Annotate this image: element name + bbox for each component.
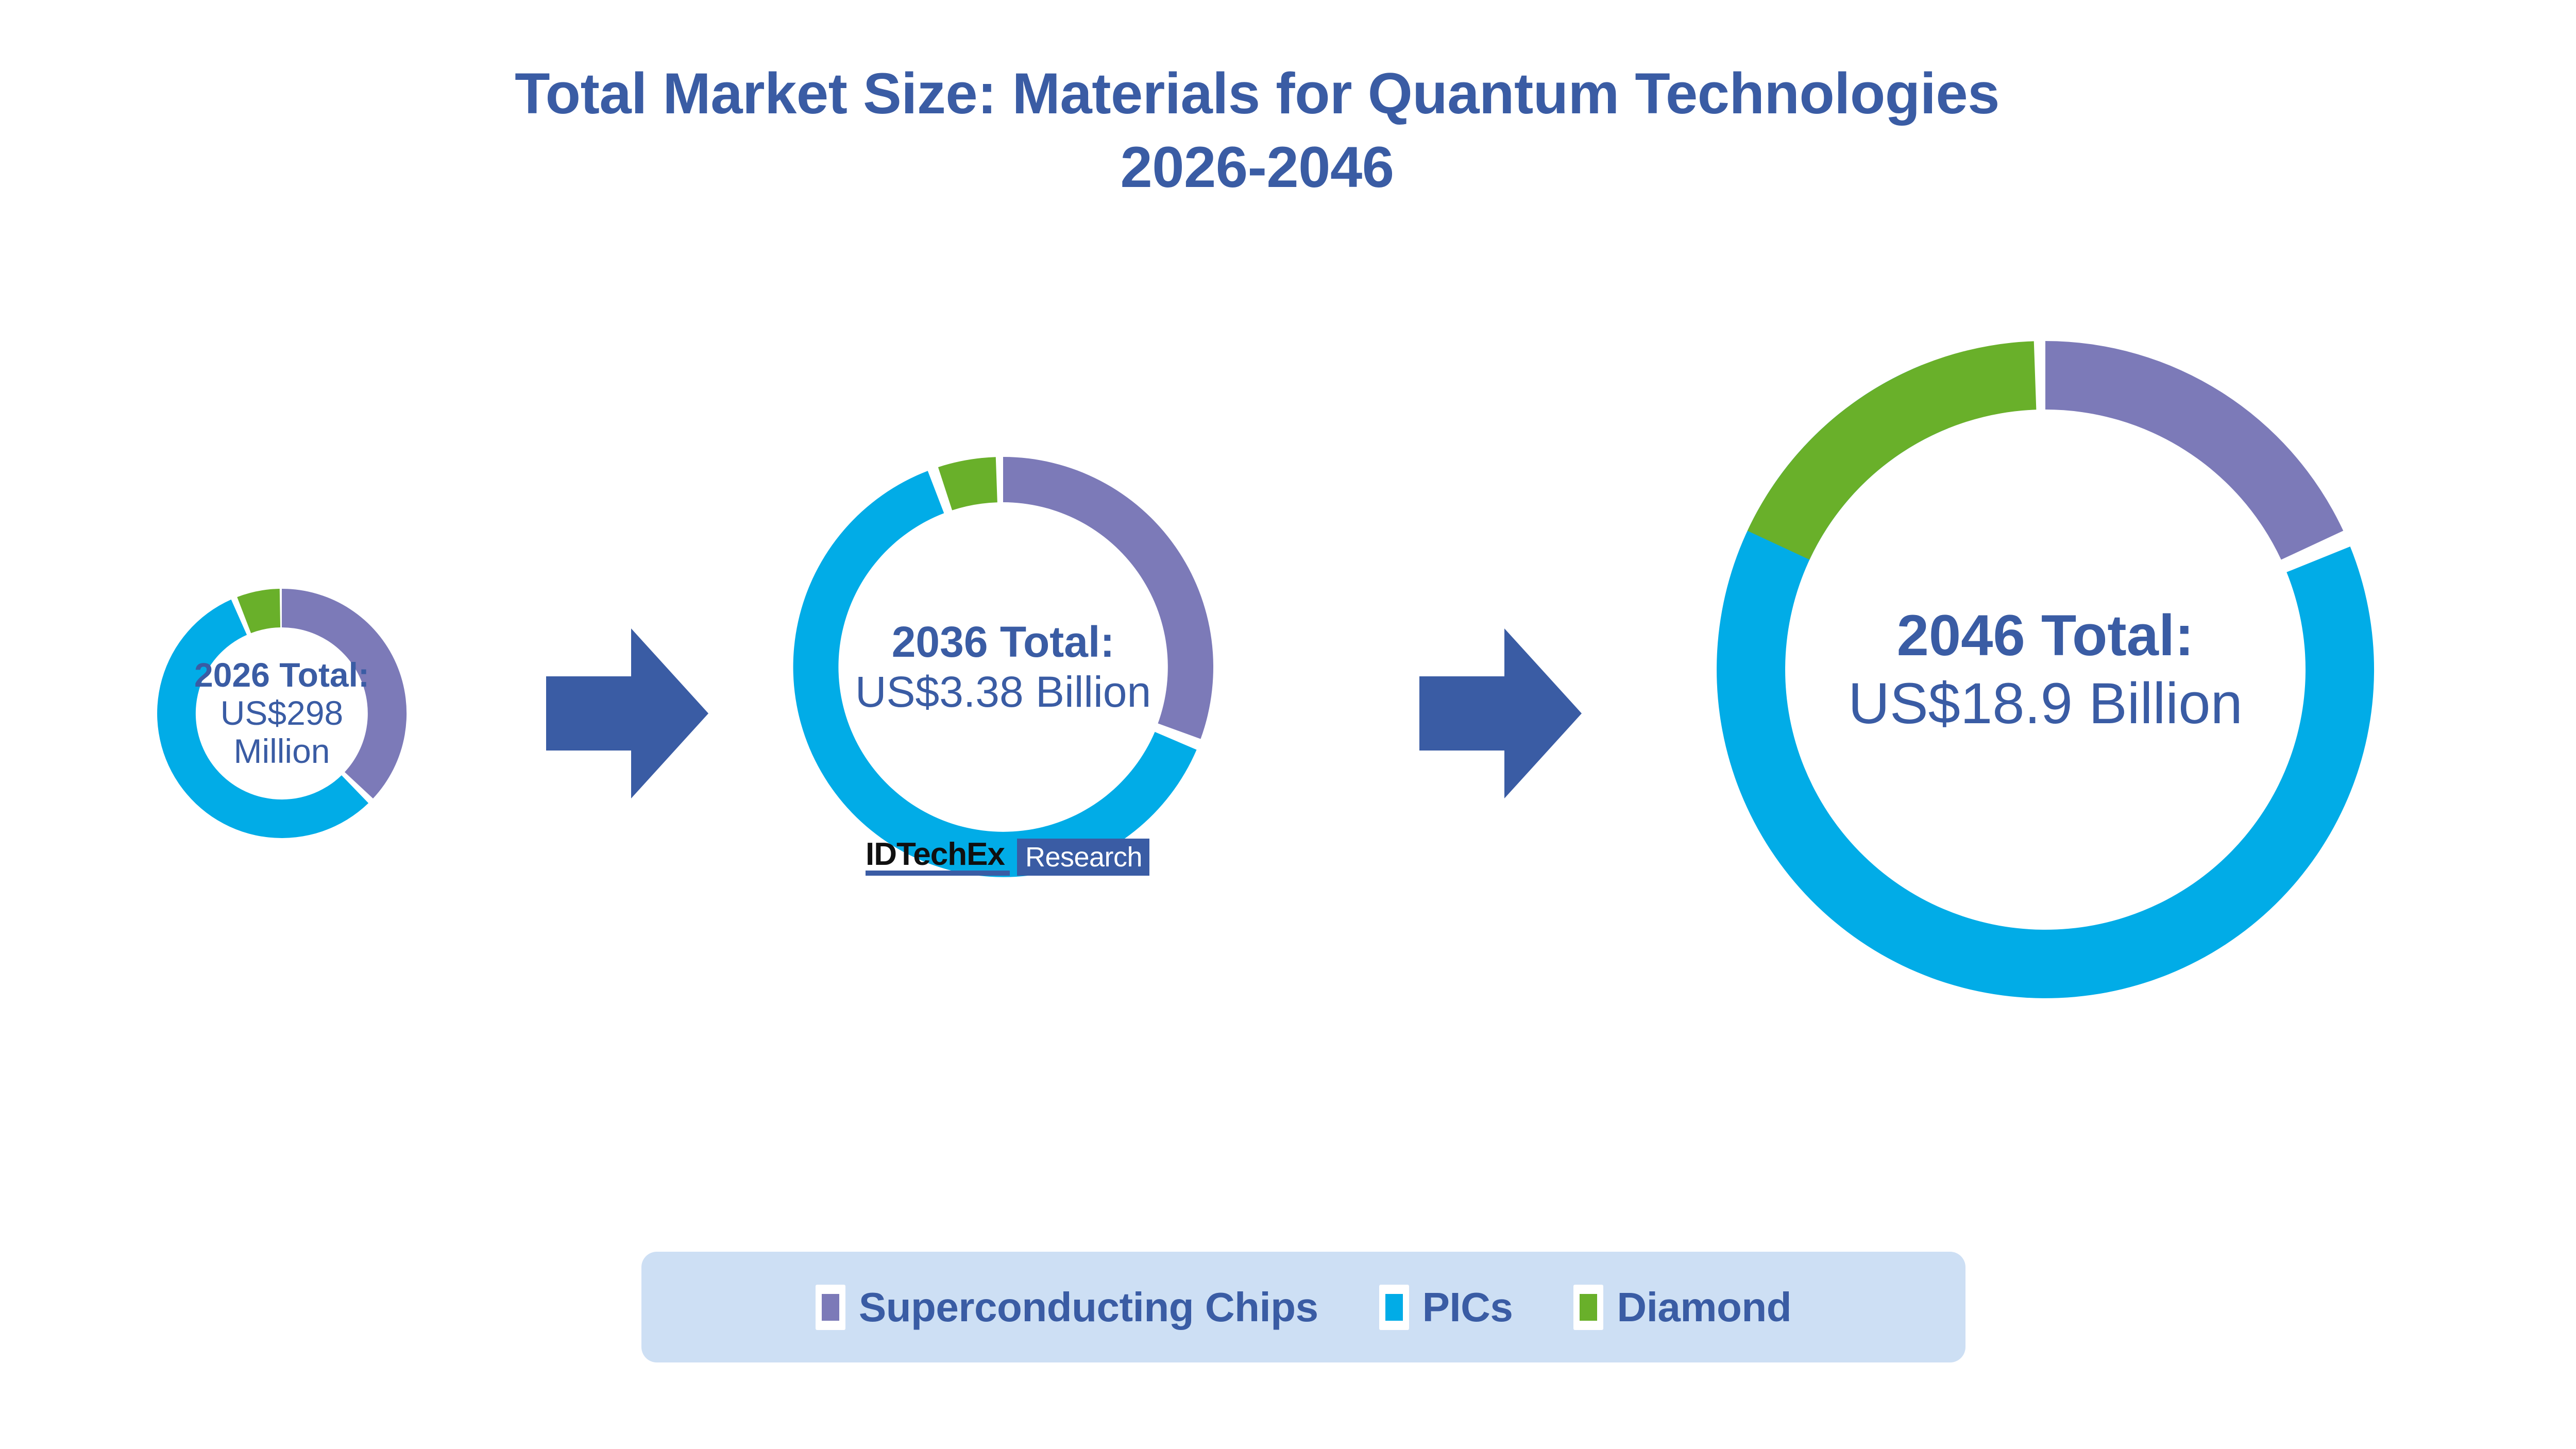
donut-chart-2026: 2026 Total: US$298 Million: [130, 561, 434, 865]
legend-swatch-pics: [1385, 1294, 1403, 1321]
legend-swatch-box-diamond: [1573, 1285, 1603, 1330]
chart-legend: Superconducting Chips PICs Diamond: [641, 1252, 1965, 1362]
donut-2046-slice-diamond[interactable]: [1748, 341, 2037, 559]
legend-swatch-box-superconducting-chips: [816, 1285, 845, 1330]
legend-swatch-superconducting-chips: [822, 1294, 839, 1321]
arrow-right-icon-1: [536, 626, 711, 801]
idtechex-research-logo: IDTechEx Research: [866, 839, 1149, 876]
arrow-right-icon-2: [1409, 626, 1584, 801]
donut-2026-slice-diamond[interactable]: [237, 589, 280, 633]
donut-chart-stage: 2026 Total: US$298 Million 2036 Total: U…: [0, 0, 2576, 1449]
legend-label-diamond: Diamond: [1617, 1284, 1791, 1331]
donut-2036-slice-diamond[interactable]: [938, 457, 997, 510]
donut-2046-svg: [1643, 268, 2447, 1071]
donut-2046-slice-superconducting-chips[interactable]: [2045, 341, 2343, 560]
legend-item-pics[interactable]: PICs: [1379, 1284, 1513, 1331]
legend-swatch-box-pics: [1379, 1285, 1409, 1330]
legend-label-pics: PICs: [1422, 1284, 1513, 1331]
donut-2026-svg: [130, 561, 434, 865]
idtechex-wordmark: IDTechEx: [866, 839, 1010, 876]
legend-swatch-diamond: [1580, 1294, 1597, 1321]
donut-2036-slice-superconducting-chips[interactable]: [1003, 457, 1213, 739]
idtechex-research-badge: Research: [1017, 839, 1149, 876]
legend-item-diamond[interactable]: Diamond: [1573, 1284, 1791, 1331]
donut-2026-slice-superconducting-chips[interactable]: [282, 589, 406, 798]
legend-label-superconducting-chips: Superconducting Chips: [859, 1284, 1318, 1331]
donut-chart-2046: 2046 Total: US$18.9 Billion: [1643, 268, 2447, 1071]
legend-item-superconducting-chips[interactable]: Superconducting Chips: [816, 1284, 1318, 1331]
